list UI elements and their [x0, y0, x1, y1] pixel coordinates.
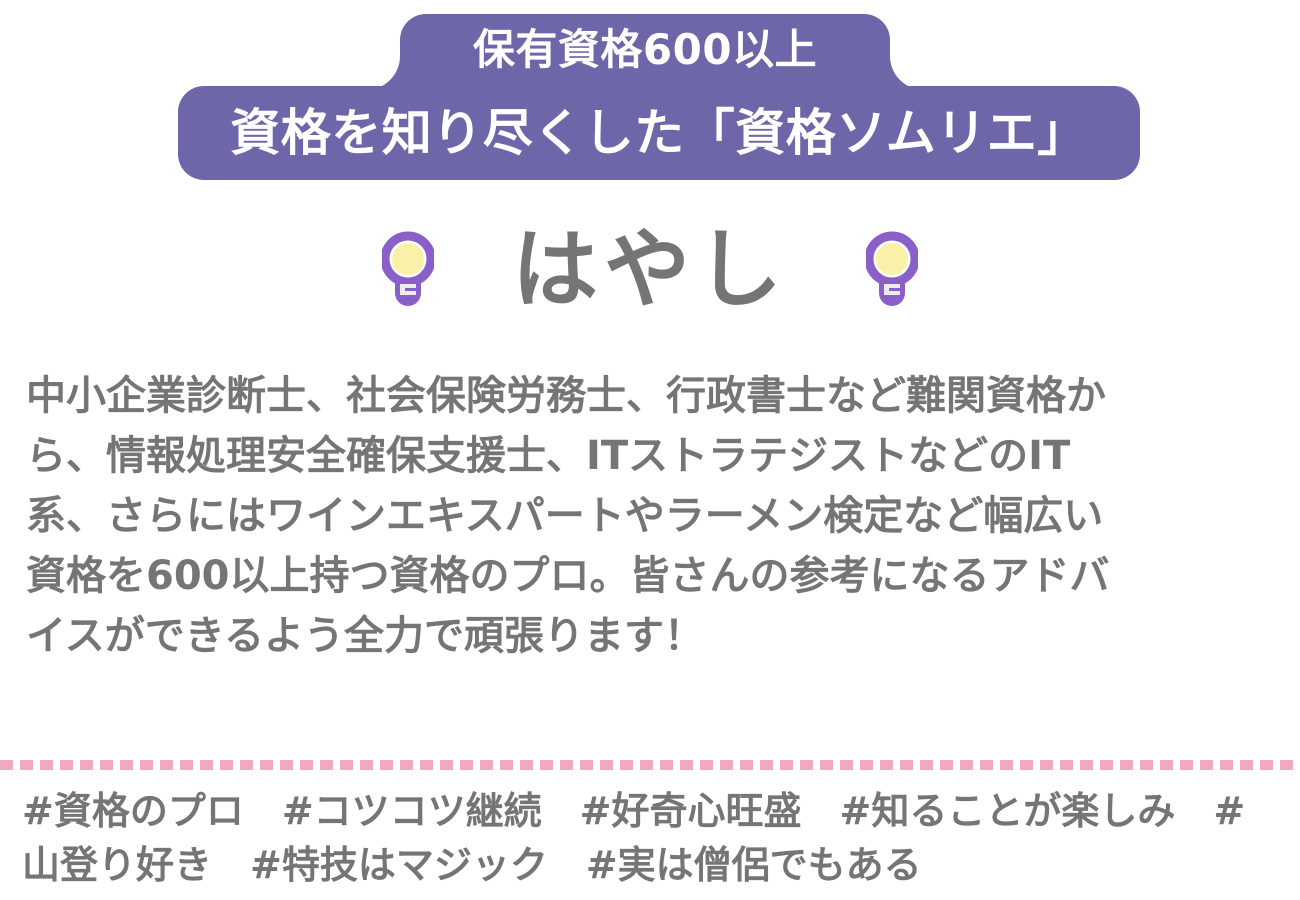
badge-top-label: 保有資格600以上 — [473, 29, 817, 71]
badge-main-label: 資格を知り尽くした「資格ソムリエ」 — [230, 108, 1088, 158]
description-line: イスができるよう全力で頑張ります！ — [26, 606, 1276, 666]
hashtag-line: 山登り好き #特技はマジック #実は僧侶でもある — [22, 838, 1292, 892]
profile-description: 中小企業診断士、社会保険労務士、行政書士など難関資格か ら、情報処理安全確保支援… — [26, 366, 1276, 666]
description-line: 中小企業診断士、社会保険労務士、行政書士など難関資格か — [26, 366, 1276, 426]
profile-name-row: はやし — [0, 200, 1300, 340]
hashtag-list: #資格のプロ #コツコツ継続 #好奇心旺盛 #知ることが楽しみ # 山登り好き … — [22, 784, 1292, 892]
badge-notch-right — [890, 56, 924, 90]
description-line: 系、さらにはワインエキスパートやラーメン検定など幅広い — [26, 486, 1276, 546]
badge-notch-left — [366, 56, 400, 90]
badge-main-banner: 資格を知り尽くした「資格ソムリエ」 — [178, 86, 1140, 180]
description-line: 資格を600以上持つ資格のプロ。皆さんの参考になるアドバ — [26, 546, 1276, 606]
lightbulb-icon-left — [382, 231, 434, 309]
description-line: ら、情報処理安全確保支援士、ITストラテジストなどのIT — [26, 426, 1276, 486]
profile-header-badge: 保有資格600以上 資格を知り尽くした「資格ソムリエ」 — [0, 0, 1300, 190]
profile-name: はやし — [512, 227, 788, 313]
lightbulb-icon-right — [866, 231, 918, 309]
hashtag-line: #資格のプロ #コツコツ継続 #好奇心旺盛 #知ることが楽しみ # — [22, 784, 1292, 838]
dashed-divider — [0, 760, 1300, 770]
badge-top-tab: 保有資格600以上 — [400, 14, 890, 90]
